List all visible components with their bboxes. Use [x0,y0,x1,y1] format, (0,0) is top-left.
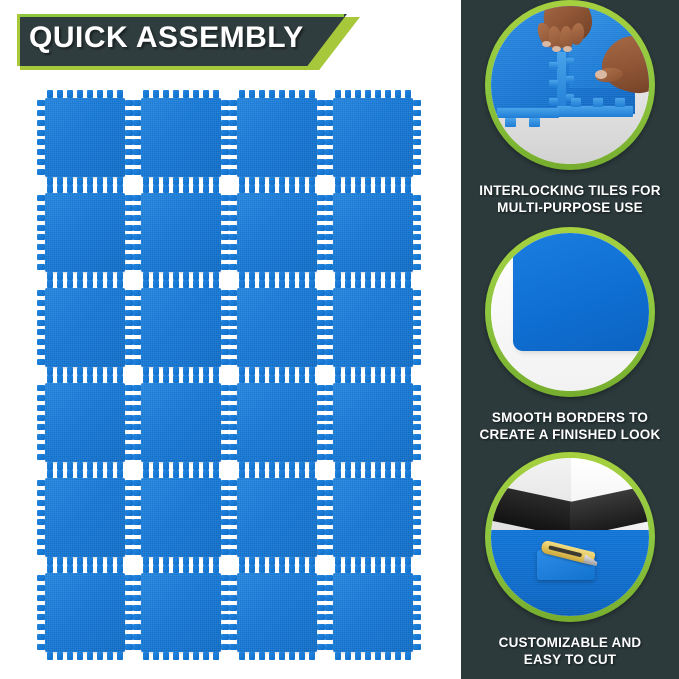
tile-surface [237,573,317,652]
tile-tooth [87,565,93,573]
tile-tooth [325,195,333,201]
tile-tooth [229,310,237,316]
tile-teeth-top [143,280,219,288]
tile-tooth [183,272,189,280]
tile-tooth [143,272,149,280]
tile-teeth-left [37,100,45,175]
tile-tooth [325,320,333,326]
tile-tooth [125,359,133,365]
tile-tooth [269,557,275,565]
banner-top-accent-line [17,14,344,17]
tile-tooth [249,177,255,185]
tile-tooth [229,349,237,355]
tile-tooth [345,272,351,280]
tile-tooth [107,470,113,478]
tile-teeth-top [47,185,123,193]
tile-tooth [203,462,209,470]
tile-tooth [395,470,401,478]
tile-tooth [67,272,73,280]
tile-tooth [385,367,391,375]
tile-teeth-right [413,575,421,650]
tile-surface [237,478,317,557]
tile-tooth [77,462,83,470]
tile-tooth [299,272,305,280]
tile-teeth-top [335,185,411,193]
tile-tooth [133,225,141,231]
tile-tooth [117,90,123,98]
tile-tooth [125,130,133,136]
tile-tooth [413,644,421,650]
tile-tooth [97,375,103,383]
tile-tooth [125,624,133,630]
tile-tooth [269,272,275,280]
tile-tooth [221,310,229,316]
tile-tooth [335,90,341,98]
tile-tooth [87,375,93,383]
tile-tooth [37,120,45,126]
tile-tooth [125,120,133,126]
tile-tooth [173,280,179,288]
tile-tooth [385,280,391,288]
tile-tooth [375,462,381,470]
foam-tile [133,565,229,660]
tile-tooth [125,264,133,270]
tile-teeth-bottom [335,652,411,660]
tile-tooth [279,375,285,383]
tile-tooth [325,434,333,440]
tile-tooth [413,339,421,345]
tile-tooth [221,415,229,421]
tile-tooth [269,185,275,193]
tile-tooth [87,280,93,288]
tile-tooth [229,254,237,260]
tile-tooth [365,375,371,383]
tile-tooth [317,234,325,240]
tile-tooth [221,225,229,231]
tile-tooth [125,300,133,306]
tile-tooth [37,159,45,165]
tile-tooth [325,349,333,355]
tile-teeth-top [335,280,411,288]
tile-tooth [87,367,93,375]
tile-tooth [317,605,325,611]
tile-tooth [385,470,391,478]
tile-tooth [395,652,401,660]
tile-tooth [269,470,275,478]
tile-tooth [193,90,199,98]
tile-tooth [213,375,219,383]
tile-tooth [57,462,63,470]
tile-tooth [173,470,179,478]
tile-tooth [317,205,325,211]
tile-tooth [229,234,237,240]
caption-line-2: EASY TO CUT [467,651,673,668]
tile-tooth [37,424,45,430]
tile-tooth [37,195,45,201]
tile-tooth [37,205,45,211]
page-title: QUICK ASSEMBLY [29,21,304,55]
tile-tooth [259,185,265,193]
tile-tooth [183,90,189,98]
tile-tooth [259,652,265,660]
tile-tooth [107,367,113,375]
tile-tooth [125,385,133,391]
tile-tooth [317,290,325,296]
tile-tooth [153,375,159,383]
tile-tooth [325,605,333,611]
title-banner: QUICK ASSEMBLY [12,13,360,70]
tile-surface [333,478,413,557]
tile-tooth [183,185,189,193]
tile-tooth [317,225,325,231]
tile-tooth [133,624,141,630]
tile-tooth [317,169,325,175]
tile-tooth [221,290,229,296]
tile-tooth [107,462,113,470]
tile-tooth [67,185,73,193]
tile-tooth [183,280,189,288]
feature-caption: CUSTOMIZABLE AND EASY TO CUT [461,634,679,668]
tile-tooth [317,254,325,260]
tile-tooth [385,462,391,470]
tile-tooth [117,557,123,565]
tile-teeth-left [37,480,45,555]
tile-teeth-left [325,575,333,650]
tile-tooth [229,634,237,640]
foam-tile [133,185,229,280]
tile-tooth [413,264,421,270]
tile-tooth [193,565,199,573]
tile-tooth [77,565,83,573]
tile-teeth-top [47,375,123,383]
tile-tooth [67,280,73,288]
tile-tooth [163,280,169,288]
tile-tooth [413,329,421,335]
tile-tooth [221,585,229,591]
tile-tooth [221,385,229,391]
tile-tooth [385,557,391,565]
caption-line-2: MULTI-PURPOSE USE [467,199,673,216]
tile-tooth [413,529,421,535]
tile-tooth [249,462,255,470]
tile-tooth [335,565,341,573]
tile-tooth [125,405,133,411]
feature-image-circle [485,452,655,622]
tile-tooth [37,110,45,116]
tile-tooth [325,405,333,411]
tile-tooth [229,359,237,365]
foam-tile [133,90,229,185]
tile-tooth [325,624,333,630]
tile-tooth [173,185,179,193]
tile-teeth-left [133,575,141,650]
tile-tooth [163,90,169,98]
tile-tooth [125,290,133,296]
tile-tooth [413,254,421,260]
feature-caption: SMOOTH BORDERS TO CREATE A FINISHED LOOK [461,409,679,443]
tile-tooth [125,415,133,421]
tile-tooth [143,185,149,193]
tile-tooth [413,139,421,145]
tile-tooth [125,510,133,516]
tile-tooth [405,280,411,288]
tile-tooth [355,177,361,185]
tile-tooth [117,565,123,573]
tile-tooth [239,565,245,573]
tile-tooth [325,139,333,145]
tile-tooth [385,565,391,573]
tile-tooth [221,149,229,155]
tile-tooth [173,177,179,185]
tile-teeth-top [47,565,123,573]
tile-tooth [117,280,123,288]
tile-tooth [239,280,245,288]
tile-teeth-bottom [143,177,219,185]
tile-tooth [57,185,63,193]
tile-teeth-right [221,575,229,650]
tile-tooth [213,90,219,98]
tile-teeth-top [239,565,315,573]
foam-tile [37,185,133,280]
tile-tooth [413,130,421,136]
tile-tooth [345,367,351,375]
tile-tooth [335,470,341,478]
tile-teeth-right [125,575,133,650]
tile-tooth [57,272,63,280]
tile-teeth-right [413,290,421,365]
tile-tooth [317,614,325,620]
tile-tooth [37,225,45,231]
tile-tooth [345,185,351,193]
tile-teeth-top [335,90,411,98]
tile-tooth [317,310,325,316]
tile-tooth [317,519,325,525]
tile-tooth [47,280,53,288]
tile-tooth [133,614,141,620]
tile-tooth [163,652,169,660]
tile-teeth-left [325,100,333,175]
tile-tooth [221,424,229,430]
tile-surface [45,478,125,557]
tile-tooth [117,652,123,660]
tile-tooth [221,195,229,201]
tile-tooth [133,595,141,601]
foam-tile [229,375,325,470]
tile-tooth [355,462,361,470]
tile-tooth [221,110,229,116]
tile-teeth-bottom [335,177,411,185]
tile-tooth [37,329,45,335]
tile-tooth [133,519,141,525]
tile-tooth [317,264,325,270]
tile-teeth-left [325,480,333,555]
tile-tooth [221,130,229,136]
tile-tooth [193,272,199,280]
tile-tooth [47,375,53,383]
tile-tooth [57,652,63,660]
tile-tooth [413,480,421,486]
tile-tooth [37,320,45,326]
tile-tooth [229,300,237,306]
tile-tooth [153,177,159,185]
tile-teeth-top [335,470,411,478]
tile-tooth [221,339,229,345]
tile-tooth [125,234,133,240]
tile-tooth [125,159,133,165]
tile-teeth-bottom [143,462,219,470]
tile-tooth [133,339,141,345]
tile-tooth [229,100,237,106]
tile-tooth [385,177,391,185]
tile-teeth-top [143,90,219,98]
tile-tooth [203,565,209,573]
tile-tooth [413,434,421,440]
tile-tooth [221,614,229,620]
features-panel: INTERLOCKING TILES FOR MULTI-PURPOSE USE… [461,0,679,679]
tile-tooth [133,110,141,116]
tile-tooth [47,177,53,185]
tile-tooth [37,300,45,306]
tile-grid [37,90,421,662]
tile-tooth [183,652,189,660]
tile-tooth [125,634,133,640]
tile-tooth [289,177,295,185]
tile-tooth [221,500,229,506]
tile-tooth [221,480,229,486]
tile-tooth [309,367,315,375]
tile-surface [141,98,221,177]
tile-tooth [221,205,229,211]
tile-teeth-bottom [47,272,123,280]
tile-tooth [229,529,237,535]
tile-tooth [355,565,361,573]
tile-tooth [229,434,237,440]
tile-tooth [317,415,325,421]
tile-tooth [289,185,295,193]
tile-surface [45,193,125,272]
tile-teeth-right [317,290,325,365]
tile-tooth [335,177,341,185]
tile-tooth [229,539,237,545]
tile-tooth [37,415,45,421]
tile-tooth [37,244,45,250]
tile-tooth [405,367,411,375]
tile-tooth [221,159,229,165]
tile-teeth-top [47,90,123,98]
tile-tooth [125,575,133,581]
tile-tooth [221,320,229,326]
tile-tooth [37,614,45,620]
tile-teeth-bottom [335,462,411,470]
tile-teeth-right [317,195,325,270]
tile-tooth [413,595,421,601]
tile-tooth [37,605,45,611]
tile-teeth-bottom [335,557,411,565]
tile-tooth [163,557,169,565]
tile-tooth [309,652,315,660]
tile-tooth [47,565,53,573]
tile-tooth [249,90,255,98]
tile-tooth [221,254,229,260]
foam-tile [325,470,421,565]
tile-tooth [413,234,421,240]
tile-teeth-right [221,100,229,175]
tile-tooth [325,264,333,270]
tile-tooth [183,470,189,478]
tile-tooth [335,280,341,288]
tile-tooth [317,385,325,391]
tile-tooth [309,557,315,565]
tile-tooth [229,585,237,591]
tile-surface [237,193,317,272]
tile-surface [237,288,317,367]
tile-tooth [125,320,133,326]
tile-tooth [163,375,169,383]
tile-tooth [163,470,169,478]
tile-tooth [317,130,325,136]
tile-tooth [413,159,421,165]
tile-teeth-top [47,280,123,288]
tile-tooth [335,185,341,193]
foam-tile [325,565,421,660]
tile-tooth [413,490,421,496]
tile-tooth [325,585,333,591]
foam-tile [133,375,229,470]
tile-tooth [153,565,159,573]
tile-tooth [125,254,133,260]
tile-tooth [413,225,421,231]
tile-surface [45,288,125,367]
tile-tooth [203,272,209,280]
tile-tooth [221,634,229,640]
tile-tooth [309,375,315,383]
tile-tooth [317,624,325,630]
tile-tooth [97,177,103,185]
feature-image-circle [485,0,655,170]
tile-tooth [153,185,159,193]
tile-teeth-right [317,100,325,175]
tile-teeth-top [335,375,411,383]
tile-tooth [37,359,45,365]
tile-tooth [47,557,53,565]
tile-tooth [229,490,237,496]
tile-tooth [299,280,305,288]
tile-tooth [117,462,123,470]
tile-tooth [133,254,141,260]
tile-teeth-right [413,480,421,555]
tile-tooth [77,652,83,660]
tile-tooth [193,185,199,193]
feature-image-circle [485,227,655,397]
tile-tooth [87,90,93,98]
tile-tooth [229,549,237,555]
tile-tooth [125,139,133,145]
tile-tooth [229,320,237,326]
tile-tooth [37,395,45,401]
tile-teeth-right [125,290,133,365]
tile-tooth [213,272,219,280]
tile-tooth [229,339,237,345]
tile-tooth [375,652,381,660]
tile-tooth [193,177,199,185]
tile-teeth-bottom [239,367,315,375]
tile-tooth [365,557,371,565]
tile-tooth [163,367,169,375]
tile-tooth [413,349,421,355]
tile-tooth [375,470,381,478]
tile-tooth [325,130,333,136]
tile-teeth-top [143,470,219,478]
